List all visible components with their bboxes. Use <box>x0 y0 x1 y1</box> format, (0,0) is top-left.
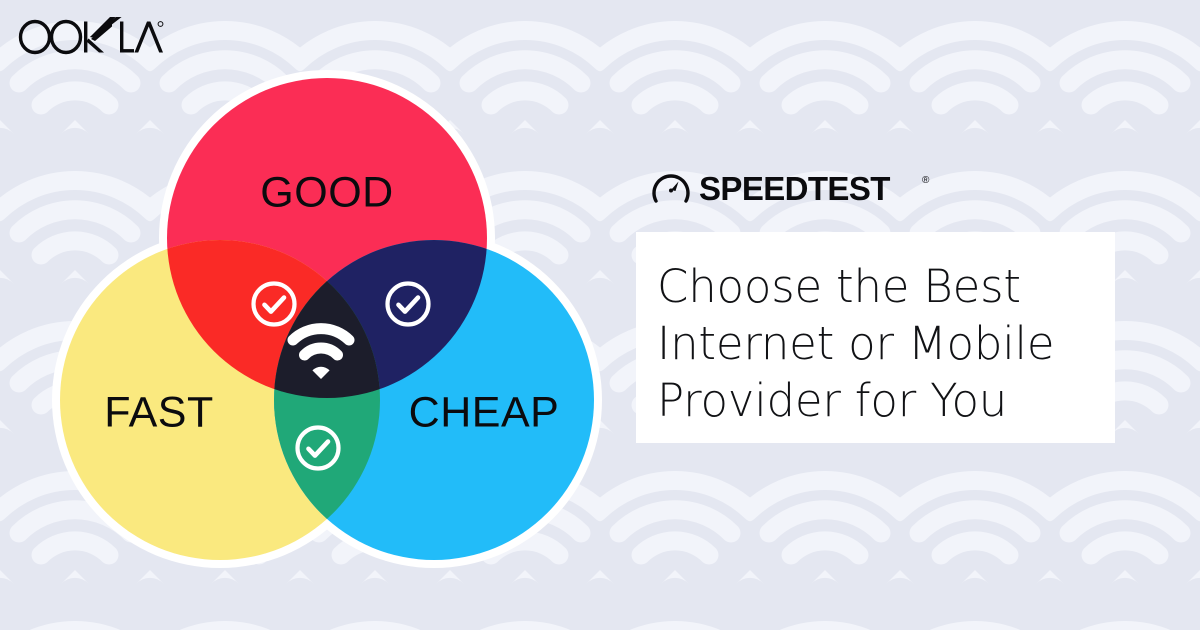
right-column: SPEEDTEST SPEEDTEST ® <box>636 168 1136 215</box>
speedtest-wordmark-text: SPEEDTEST <box>699 170 890 207</box>
venn-label-good: GOOD <box>260 168 393 216</box>
promo-graphic: OOKLA Good Fast Cheap venn diagram <box>0 0 1200 630</box>
ookla-logo[interactable]: OOKLA <box>16 15 166 59</box>
venn-label-fast: FAST <box>104 388 214 436</box>
venn-diagram: Good Fast Cheap venn diagram <box>42 58 612 578</box>
speedometer-icon <box>654 176 688 201</box>
headline-card: Choose the Best Internet or Mobile Provi… <box>636 232 1115 443</box>
page-title: Choose the Best Internet or Mobile Provi… <box>657 258 1081 429</box>
venn-label-cheap: CHEAP <box>409 388 560 436</box>
speedtest-trademark: ® <box>922 175 930 186</box>
speedtest-logo[interactable]: SPEEDTEST SPEEDTEST ® <box>650 168 940 210</box>
